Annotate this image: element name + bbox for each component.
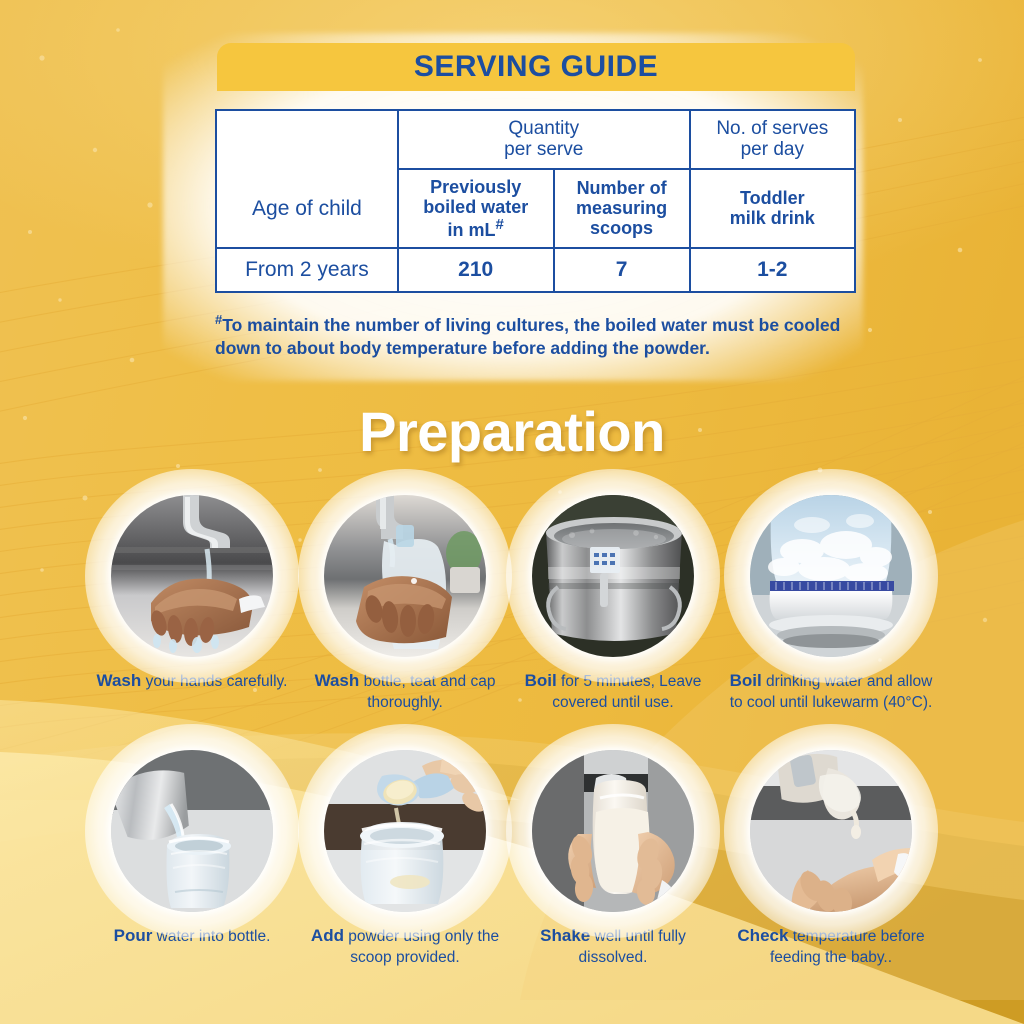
adding-powder-with-scoop-photo (324, 750, 486, 912)
washing-bottle-under-tap-photo (324, 495, 486, 657)
step-keyword: Add (311, 926, 344, 945)
step-keyword: Wash (97, 671, 142, 690)
electric-kettle-boiling-water-photo (750, 495, 912, 657)
pouring-water-into-bottle-photo (111, 750, 273, 912)
step-boil-water: Boil drinking water and allow to cool un… (726, 495, 936, 713)
photo-wrap (111, 750, 273, 912)
step-pour-water: Pour water into bottle. (87, 750, 297, 948)
step-keyword: Check (737, 926, 788, 945)
checking-milk-temperature-on-wrist-photo (750, 750, 912, 912)
photo-wrap (111, 495, 273, 657)
photo-wrap (750, 495, 912, 657)
step-wash-hands: Wash your hands carefully. (87, 495, 297, 693)
photo-wrap (324, 495, 486, 657)
photo-wrap (750, 750, 912, 912)
step-keyword: Pour (114, 926, 153, 945)
preparation-steps: Wash your hands carefully. (0, 0, 1024, 1024)
shaking-milk-bottle-photo (532, 750, 694, 912)
boiling-pot-with-equipment-photo (532, 495, 694, 657)
step-shake-bottle: Shake well until fully dissolved. (508, 750, 718, 968)
step-keyword: Boil (525, 671, 557, 690)
step-boil-equipment: Boil for 5 minutes, Leave covered until … (508, 495, 718, 713)
photo-wrap (324, 750, 486, 912)
photo-wrap (532, 750, 694, 912)
step-wash-bottle: Wash bottle, teat and cap thoroughly. (300, 495, 510, 713)
step-check-temperature: Check temperature before feeding the bab… (726, 750, 936, 968)
step-keyword: Boil (730, 671, 762, 690)
step-add-powder: Add powder using only the scoop provided… (300, 750, 510, 968)
washing-hands-under-tap-photo (111, 495, 273, 657)
photo-wrap (532, 495, 694, 657)
step-keyword: Wash (315, 671, 360, 690)
